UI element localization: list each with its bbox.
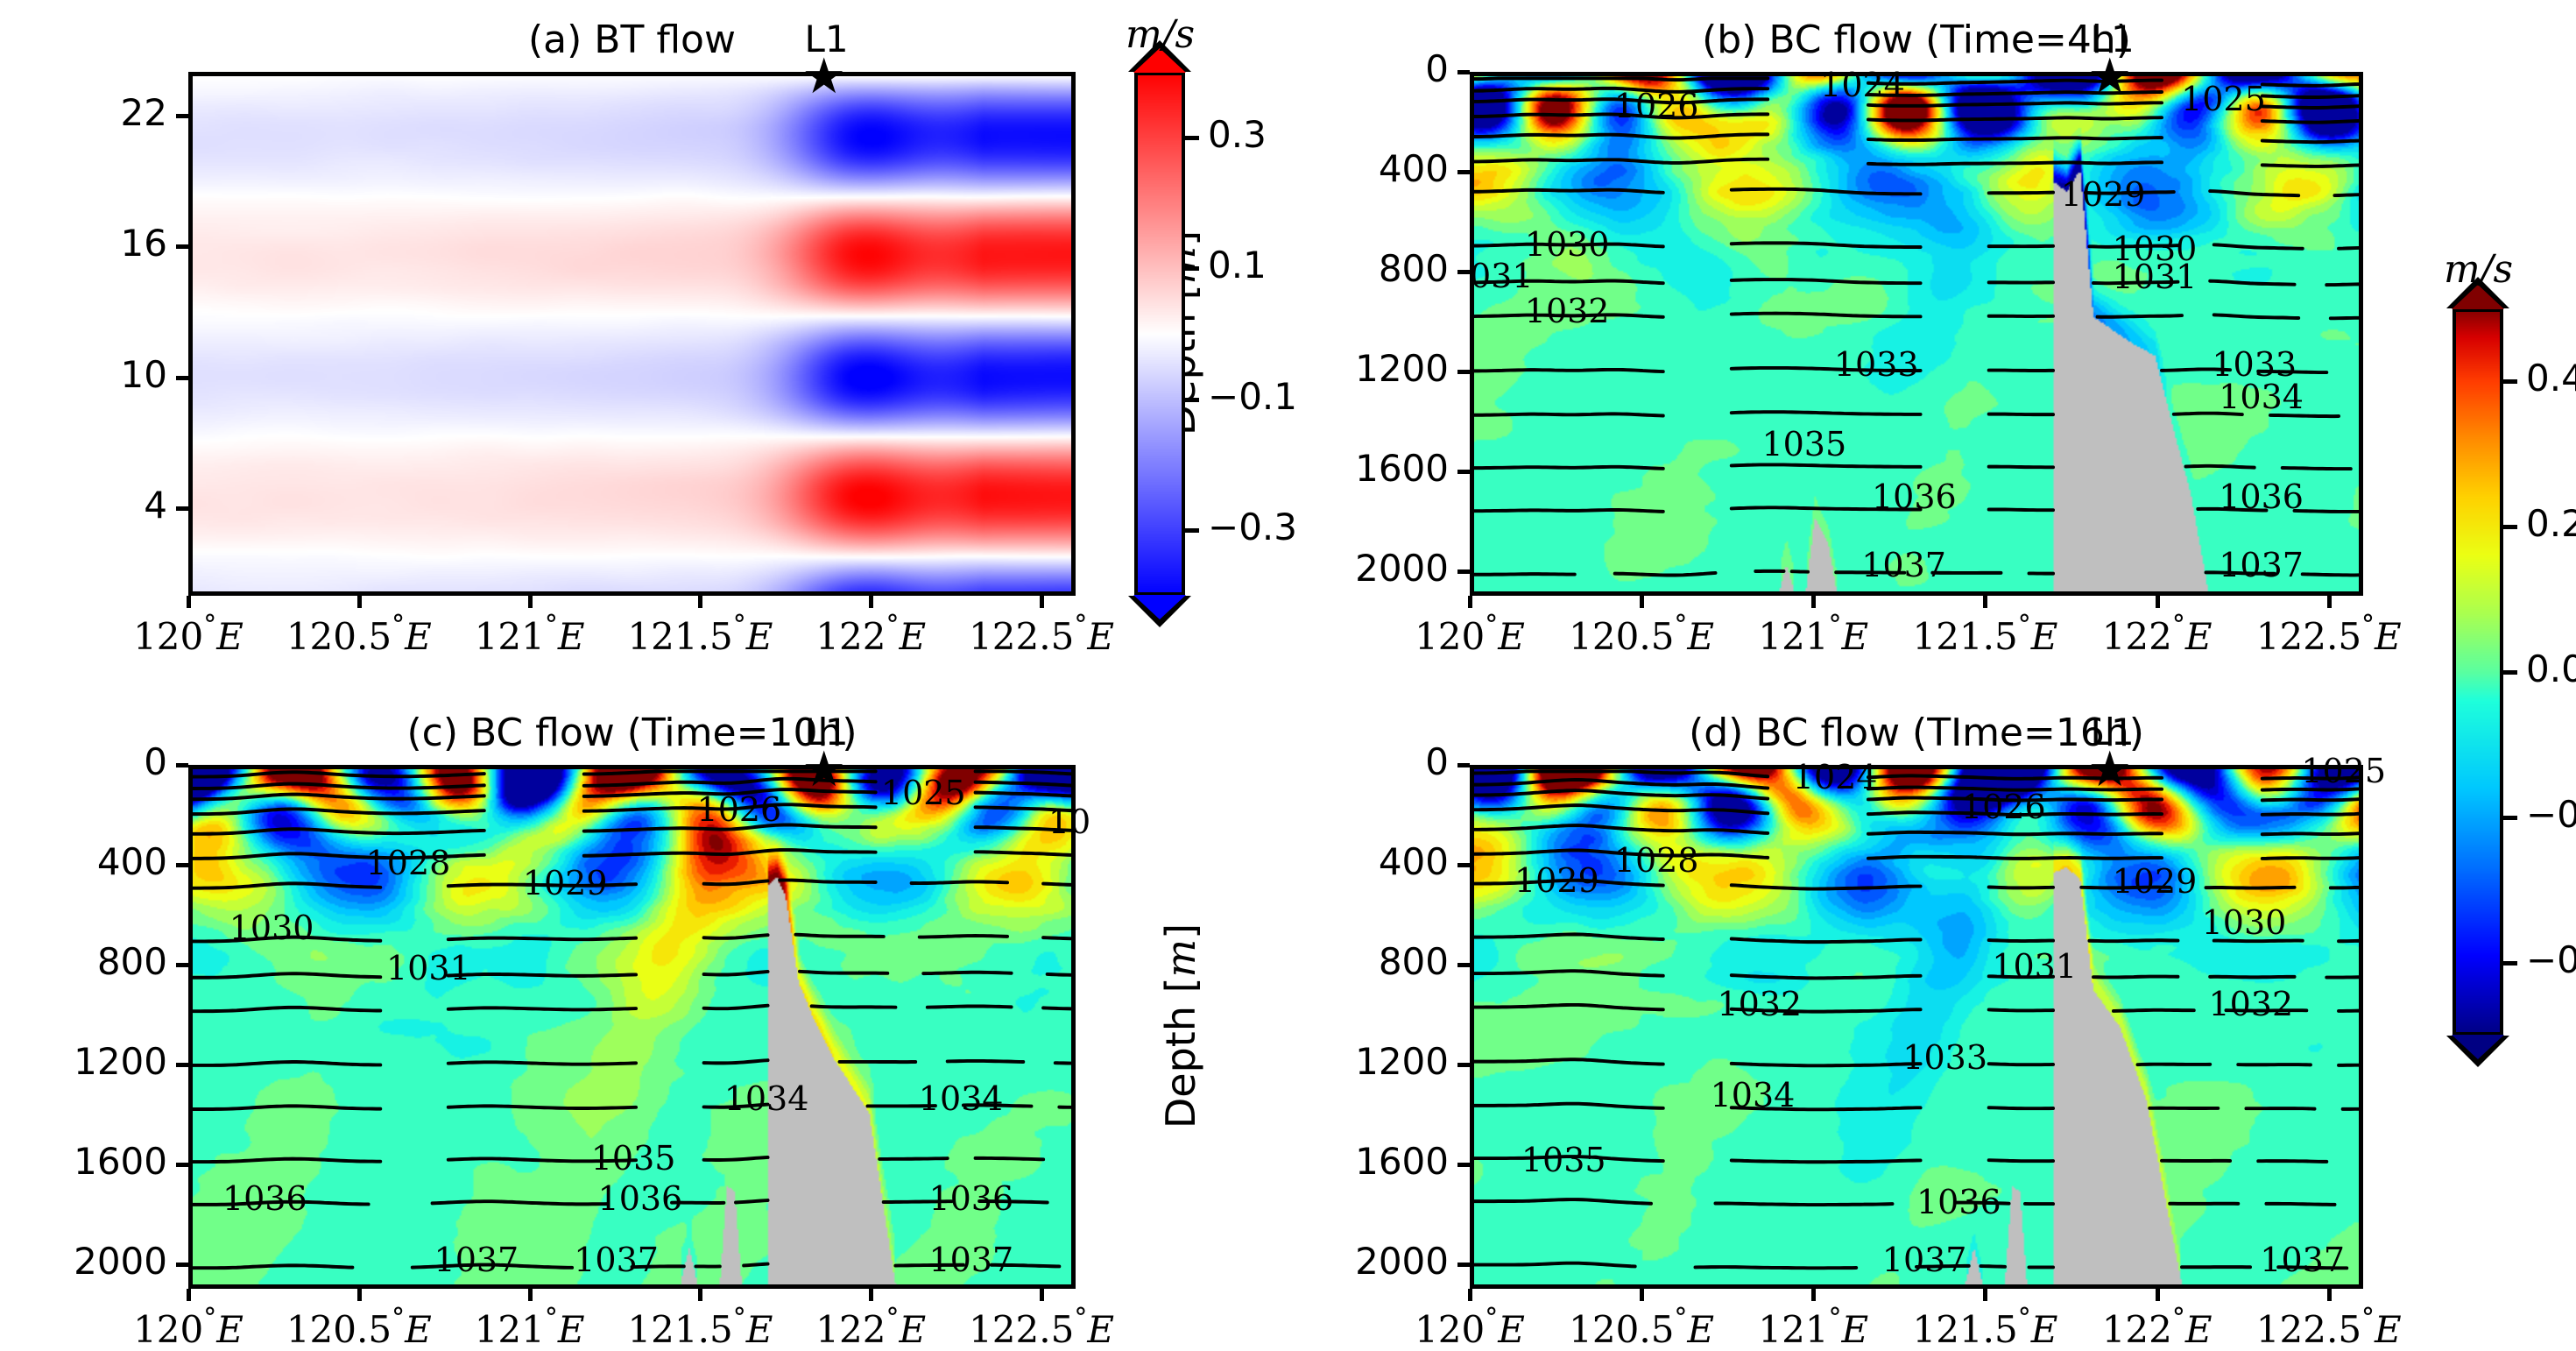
colorbar-tick-bt-3 [1183, 528, 1199, 533]
colorbar-tick-label-bt-3: −0.3 [1208, 506, 1297, 548]
colorbar-tick-label-bt-2: −0.1 [1208, 375, 1297, 418]
density-contour-label: 1024 [1793, 758, 1878, 796]
colorbar-tick-bt-2 [1183, 398, 1199, 402]
xtick-label-d-3: 121.5°E [1904, 1303, 2065, 1351]
ytick-d-3 [1457, 1063, 1470, 1067]
colorbar-tick-label-bc-4: −0.4 [2526, 938, 2576, 981]
colorbar-unit-bt: m/s [1126, 12, 1195, 57]
colorbar-body-bt [1134, 72, 1185, 596]
colorbar-tick-label-bc-0: 0.4 [2526, 357, 2576, 400]
colorbar-tick-bc-0 [2502, 379, 2517, 384]
colorbar-extend-bottom-fill-bt [1133, 595, 1186, 619]
xtick-label-d-5: 122.5°E [2248, 1303, 2410, 1351]
density-contour-label: 1029 [2113, 862, 2198, 901]
density-contour-label: 1032 [2208, 985, 2293, 1023]
colorbar-tick-label-bc-1: 0.2 [2526, 502, 2576, 545]
xtick-label-d-2: 121°E [1733, 1303, 1894, 1351]
xtick-d-5 [2327, 1289, 2332, 1301]
colorbar-tick-bc-2 [2502, 670, 2517, 675]
density-contour-label: 1037 [1882, 1241, 1967, 1279]
colorbar-body-bc [2452, 308, 2503, 1036]
colorbar-tick-bt-1 [1183, 266, 1199, 271]
xtick-label-d-0: 120°E [1389, 1303, 1550, 1351]
xtick-d-0 [1468, 1289, 1472, 1301]
density-contour-label: 1035 [1521, 1141, 1606, 1179]
ytick-d-0 [1457, 763, 1470, 767]
ylabel-d: Depth [m] [1157, 824, 1204, 1227]
ytick-label-d-1: 400 [1251, 840, 1449, 883]
density-contour-label: 1033 [1902, 1038, 1987, 1077]
xtick-d-3 [1983, 1289, 1987, 1301]
colorbar-frame-bt [1134, 72, 1185, 596]
density-contour-label: 1034 [1711, 1076, 1796, 1114]
panel-d: (d) BC flow (TIme=16h)120°E120.5°E121°E1… [0, 0, 2576, 1328]
density-contour-label: 1030 [2202, 903, 2287, 942]
density-contour-label: 1029 [1514, 861, 1599, 900]
density-contour-label: 1025 [2301, 752, 2386, 790]
ytick-label-d-3: 1200 [1251, 1040, 1449, 1083]
xtick-label-d-1: 120.5°E [1561, 1303, 1722, 1351]
colorbar-tick-label-bc-3: −0.2 [2526, 793, 2576, 836]
density-contour-label: 1032 [1717, 985, 1802, 1023]
colorbar-unit-bc: m/s [2444, 247, 2513, 292]
colorbar-tick-bc-3 [2502, 816, 2517, 820]
colorbar-tick-label-bc-2: 0.0 [2526, 647, 2576, 690]
density-contour-label: 1026 [1961, 788, 2046, 826]
ytick-d-4 [1457, 1163, 1470, 1167]
xtick-d-4 [2156, 1289, 2160, 1301]
ytick-d-2 [1457, 963, 1470, 967]
xtick-d-1 [1640, 1289, 1644, 1301]
xtick-d-2 [1811, 1289, 1816, 1301]
ytick-d-1 [1457, 863, 1470, 867]
ytick-d-5 [1457, 1263, 1470, 1267]
colorbar-tick-label-bt-1: 0.1 [1208, 244, 1267, 286]
colorbar-tick-bc-4 [2502, 961, 2517, 966]
station-label-d: L1 [2073, 711, 2152, 753]
figure-root: (a) BT flow120°E120.5°E121°E121.5°E122°E… [0, 0, 2576, 1328]
ytick-label-d-4: 1600 [1251, 1140, 1449, 1183]
ytick-label-d-2: 800 [1251, 940, 1449, 983]
colorbar-tick-bc-1 [2502, 525, 2517, 529]
colorbar-frame-bc [2452, 308, 2503, 1036]
colorbar-tick-bt-0 [1183, 136, 1199, 140]
colorbar-tick-label-bt-0: 0.3 [1208, 113, 1267, 156]
ytick-label-d-5: 2000 [1251, 1240, 1449, 1283]
ytick-label-d-0: 0 [1251, 740, 1449, 783]
colorbar-extend-bottom-fill-bc [2452, 1035, 2504, 1059]
xtick-label-d-4: 122°E [2077, 1303, 2238, 1351]
density-contour-label: 1036 [1916, 1183, 2001, 1221]
panel-title-d: (d) BC flow (TIme=16h) [1470, 711, 2363, 755]
density-contour-label: 1028 [1614, 841, 1699, 880]
density-contour-label: 1031 [1992, 947, 2077, 986]
density-contour-label: 1037 [2260, 1241, 2345, 1279]
